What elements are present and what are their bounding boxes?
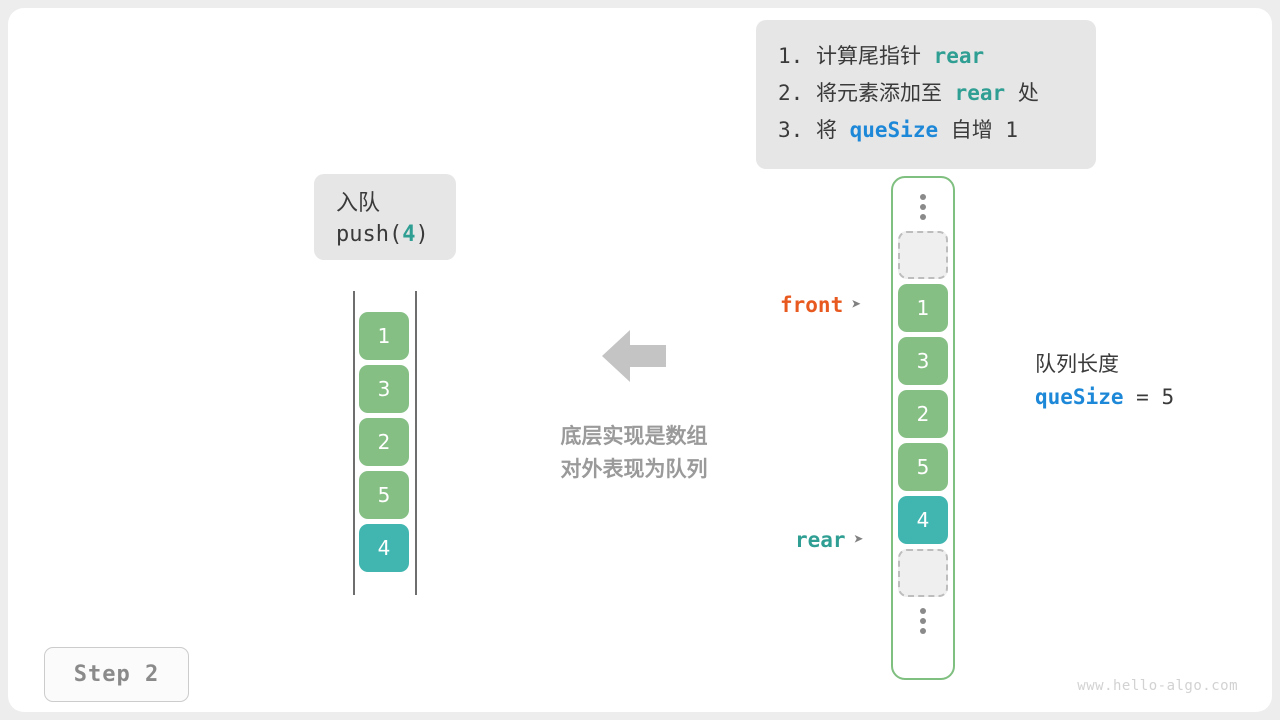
push-call-suffix: ) (415, 222, 428, 247)
instruction-1-text: 计算尾指针 (816, 44, 921, 68)
white-panel: 1. 计算尾指针 rear 2. 将元素添加至 rear 处 3. 将 queS… (8, 8, 1272, 712)
push-operation-box: 入队 push(4) (314, 174, 456, 260)
queue-cell-new: 4 (359, 524, 409, 572)
queue-cell: 5 (359, 471, 409, 519)
array-cell: 1 (898, 284, 948, 332)
array-cell: 3 (898, 337, 948, 385)
push-title: 入队 (336, 188, 456, 219)
rear-arrow-icon: ➤ (854, 530, 864, 550)
step-badge-label: Step 2 (74, 662, 159, 687)
instruction-line-2: 2. 将元素添加至 rear 处 (778, 75, 1074, 112)
array-cell: 5 (898, 443, 948, 491)
instruction-1-number: 1. (778, 44, 803, 68)
logical-queue: 1 3 2 5 4 (353, 291, 417, 595)
quesize-note: 队列长度 queSize = 5 (1035, 348, 1174, 414)
queue-rail-left (353, 291, 355, 595)
front-pointer-label: front ➤ (780, 293, 861, 317)
left-arrow-icon (602, 328, 666, 388)
queue-cell: 2 (359, 418, 409, 466)
quesize-equals: = (1124, 385, 1162, 409)
quesize-number: 5 (1161, 385, 1174, 409)
step-badge: Step 2 (44, 647, 189, 702)
queue-rail-right (415, 291, 417, 595)
quesize-note-title: 队列长度 (1035, 348, 1174, 380)
instruction-line-3: 3. 将 queSize 自增 1 (778, 112, 1074, 149)
rear-pointer-label: rear ➤ (795, 528, 864, 552)
array-cell-new: 4 (898, 496, 948, 544)
instruction-1-code: rear (934, 44, 985, 68)
logical-queue-cells: 1 3 2 5 4 (359, 312, 409, 577)
push-call: push(4) (336, 219, 456, 250)
instruction-3-number: 3. (778, 118, 803, 142)
instruction-line-1: 1. 计算尾指针 rear (778, 38, 1074, 75)
array-cell-empty (898, 549, 948, 597)
instruction-2-code: rear (955, 81, 1006, 105)
caption-line-2: 对外表现为队列 (536, 453, 732, 486)
vertical-dots-icon-top (898, 188, 948, 226)
instruction-2-number: 2. (778, 81, 803, 105)
physical-array-cells: 1 3 2 5 4 (898, 188, 948, 645)
quesize-note-value: queSize = 5 (1035, 380, 1174, 414)
push-call-prefix: push( (336, 222, 402, 247)
instruction-2-suffix: 处 (1018, 81, 1039, 105)
vertical-dots-icon-bottom (898, 602, 948, 640)
rear-pointer-text: rear (795, 528, 846, 552)
instruction-2-text: 将元素添加至 (816, 81, 942, 105)
caption-line-1: 底层实现是数组 (536, 420, 732, 453)
instruction-box: 1. 计算尾指针 rear 2. 将元素添加至 rear 处 3. 将 queS… (756, 20, 1096, 169)
watermark: www.hello-algo.com (1077, 678, 1238, 694)
instruction-3-code: queSize (850, 118, 939, 142)
quesize-var-name: queSize (1035, 385, 1124, 409)
center-caption: 底层实现是数组 对外表现为队列 (536, 420, 732, 486)
physical-array-container: 1 3 2 5 4 (891, 176, 955, 680)
array-cell: 2 (898, 390, 948, 438)
diagram-canvas: 1. 计算尾指针 rear 2. 将元素添加至 rear 处 3. 将 queS… (0, 0, 1280, 720)
queue-cell: 3 (359, 365, 409, 413)
front-pointer-text: front (780, 293, 843, 317)
push-call-value: 4 (402, 222, 415, 247)
front-arrow-icon: ➤ (851, 295, 861, 315)
queue-cell: 1 (359, 312, 409, 360)
array-cell-empty (898, 231, 948, 279)
instruction-3-suffix: 自增 1 (951, 118, 1018, 142)
instruction-3-text: 将 (816, 118, 837, 142)
